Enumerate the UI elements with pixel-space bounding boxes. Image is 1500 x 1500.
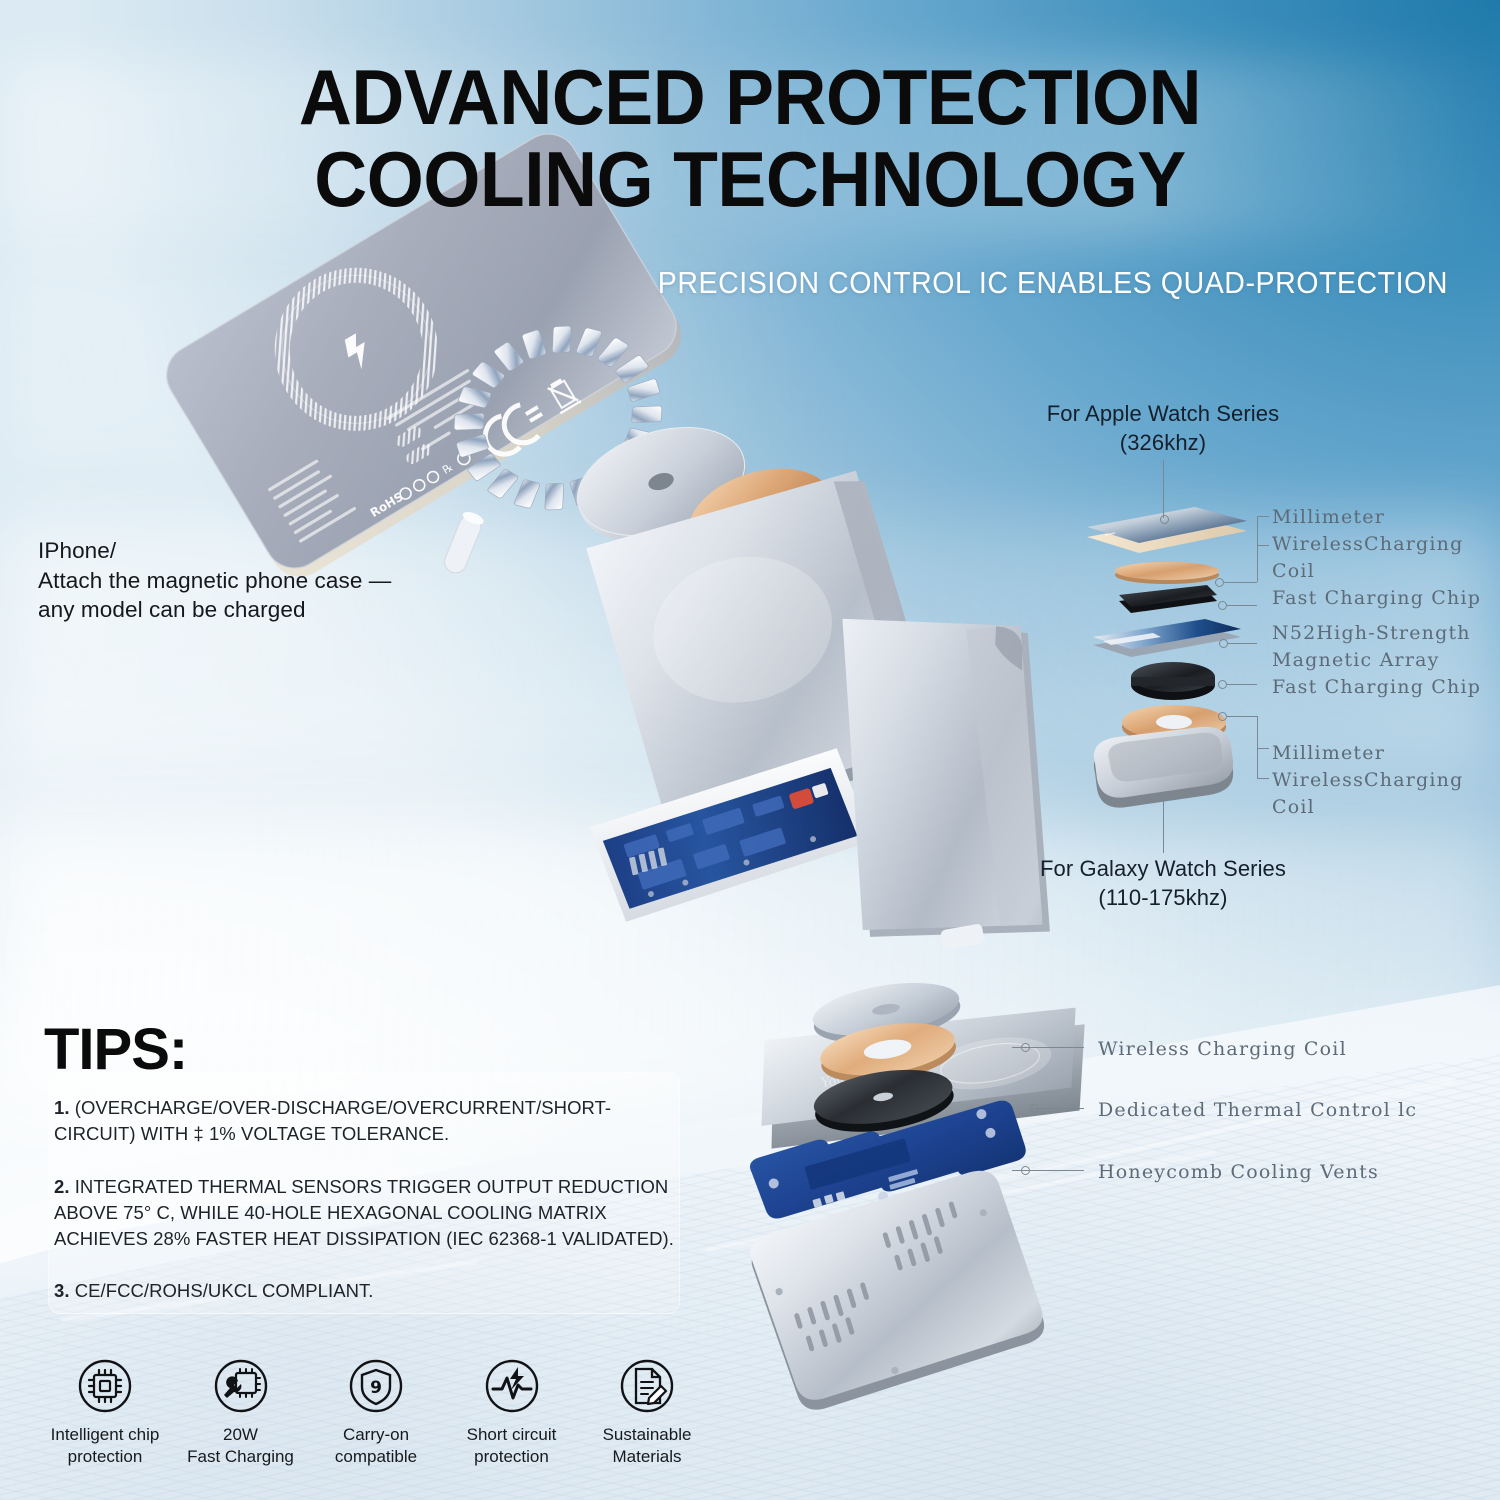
headline-line-2: COOLING TECHNOLOGY bbox=[45, 142, 1455, 217]
document-pen-icon bbox=[619, 1358, 675, 1414]
feature-fast-charging: 20W Fast Charging bbox=[182, 1358, 300, 1468]
leader-dot-thermal-ic bbox=[1030, 1104, 1039, 1113]
headline-subtitle: PRECISION CONTROL IC ENABLES QUAD-PROTEC… bbox=[116, 265, 1448, 301]
tips-item-3-text: CE/FCC/ROHS/UKCL COMPLIANT. bbox=[75, 1280, 374, 1301]
leader-dot-mm-coil-bottom bbox=[1218, 712, 1227, 721]
leader-dot-mm-coil-top bbox=[1215, 578, 1224, 587]
tips-item-2-num: 2. bbox=[54, 1176, 70, 1197]
feature-caption: Carry-on compatible bbox=[317, 1424, 435, 1468]
callout-mm-coil-top: Millimeter WirelessCharging Coil bbox=[1272, 504, 1500, 585]
leader-dot-n52 bbox=[1219, 639, 1228, 648]
feature-icon-row: Intelligent chip protection 20W bbox=[46, 1358, 706, 1468]
wrench-chip-icon bbox=[213, 1358, 269, 1414]
apple-watch-series-label: For Apple Watch Series (326khz) bbox=[1018, 400, 1308, 457]
pulse-bolt-icon bbox=[484, 1358, 540, 1414]
leader-dot-wireless-coil bbox=[1021, 1043, 1030, 1052]
feature-caption-line2: Materials bbox=[588, 1446, 706, 1468]
callout-thermal-ic: Dedicated Thermal Control lc bbox=[1098, 1097, 1417, 1124]
tips-item-2-text: INTEGRATED THERMAL SENSORS TRIGGER OUTPU… bbox=[54, 1176, 674, 1250]
feature-caption: Short circuit protection bbox=[453, 1424, 571, 1468]
leader-line-fast-chip-2 bbox=[1227, 684, 1257, 685]
galaxy-watch-series-label: For Galaxy Watch Series (110-175khz) bbox=[1018, 855, 1308, 912]
feature-sustainable-materials: Sustainable Materials bbox=[588, 1358, 706, 1468]
feature-caption-line2: Fast Charging bbox=[182, 1446, 300, 1468]
tips-item-1-num: 1. bbox=[54, 1097, 70, 1118]
leader-dot-fast-chip-2 bbox=[1218, 680, 1227, 689]
feature-caption-line2: protection bbox=[46, 1446, 164, 1468]
leader-line-galaxy-watch bbox=[1163, 795, 1164, 853]
tips-item-3: 3. CE/FCC/ROHS/UKCL COMPLIANT. bbox=[54, 1278, 674, 1304]
feature-caption-line2: protection bbox=[453, 1446, 571, 1468]
tips-item-2: 2. INTEGRATED THERMAL SENSORS TRIGGER OU… bbox=[54, 1174, 674, 1253]
leader-bracket-arm-b2 bbox=[1257, 778, 1269, 779]
shield-nine-icon: 9 bbox=[348, 1358, 404, 1414]
leader-line-mm-coil-bottom bbox=[1227, 716, 1257, 717]
tips-item-3-num: 3. bbox=[54, 1280, 70, 1301]
leader-line-apple-watch bbox=[1163, 460, 1164, 518]
callout-honeycomb: Honeycomb Cooling Vents bbox=[1098, 1159, 1379, 1186]
feature-intelligent-chip: Intelligent chip protection bbox=[46, 1358, 164, 1468]
feature-caption: 20W Fast Charging bbox=[182, 1424, 300, 1468]
feature-caption: Intelligent chip protection bbox=[46, 1424, 164, 1468]
leader-bracket-arm-top2 bbox=[1257, 545, 1269, 546]
headline-line-1: ADVANCED PROTECTION bbox=[45, 60, 1455, 135]
tips-item-1-text: (OVERCHARGE/OVER-DISCHARGE/OVERCURRENT/S… bbox=[54, 1097, 611, 1144]
chip-icon bbox=[77, 1358, 133, 1414]
feature-caption-line1: Carry-on bbox=[317, 1424, 435, 1446]
leader-bracket-mm-coil-bottom bbox=[1257, 716, 1258, 778]
leader-line-fast-chip-1 bbox=[1227, 605, 1257, 606]
leader-bracket-mm-coil-top bbox=[1257, 516, 1258, 582]
svg-text:9: 9 bbox=[370, 1378, 382, 1398]
leader-dot-honeycomb bbox=[1021, 1166, 1030, 1175]
callout-fast-chip-1: Fast Charging Chip bbox=[1272, 585, 1481, 612]
tips-body: 1. (OVERCHARGE/OVER-DISCHARGE/OVERCURREN… bbox=[54, 1095, 674, 1305]
feature-caption-line1: Sustainable bbox=[588, 1424, 706, 1446]
feature-caption: Sustainable Materials bbox=[588, 1424, 706, 1468]
callout-wireless-coil: Wireless Charging Coil bbox=[1098, 1036, 1347, 1063]
feature-caption-line2: compatible bbox=[317, 1446, 435, 1468]
feature-carry-on: 9 Carry-on compatible bbox=[317, 1358, 435, 1468]
feature-caption-line1: 20W bbox=[182, 1424, 300, 1446]
feature-caption-line1: Short circuit bbox=[453, 1424, 571, 1446]
leader-line-thermal-ic bbox=[1032, 1108, 1084, 1109]
callout-n52-array: N52High-Strength Magnetic Array bbox=[1272, 620, 1471, 674]
leader-bracket-arm-b1 bbox=[1257, 748, 1269, 749]
leader-line-mm-coil-top bbox=[1224, 582, 1257, 583]
tips-item-1: 1. (OVERCHARGE/OVER-DISCHARGE/OVERCURREN… bbox=[54, 1095, 674, 1148]
leader-dot-apple-watch bbox=[1160, 515, 1169, 524]
feature-caption-line1: Intelligent chip bbox=[46, 1424, 164, 1446]
infographic-canvas: RoHS ℞ bbox=[0, 0, 1500, 1500]
callout-fast-chip-2: Fast Charging Chip bbox=[1272, 674, 1481, 701]
leader-dot-fast-chip-1 bbox=[1218, 601, 1227, 610]
iphone-note: IPhone/ Attach the magnetic phone case —… bbox=[38, 536, 391, 625]
leader-bracket-arm-top bbox=[1257, 516, 1269, 517]
callout-mm-coil-bottom: Millimeter WirelessCharging Coil bbox=[1272, 740, 1500, 821]
feature-short-circuit: Short circuit protection bbox=[453, 1358, 571, 1468]
leader-line-n52 bbox=[1228, 643, 1257, 644]
